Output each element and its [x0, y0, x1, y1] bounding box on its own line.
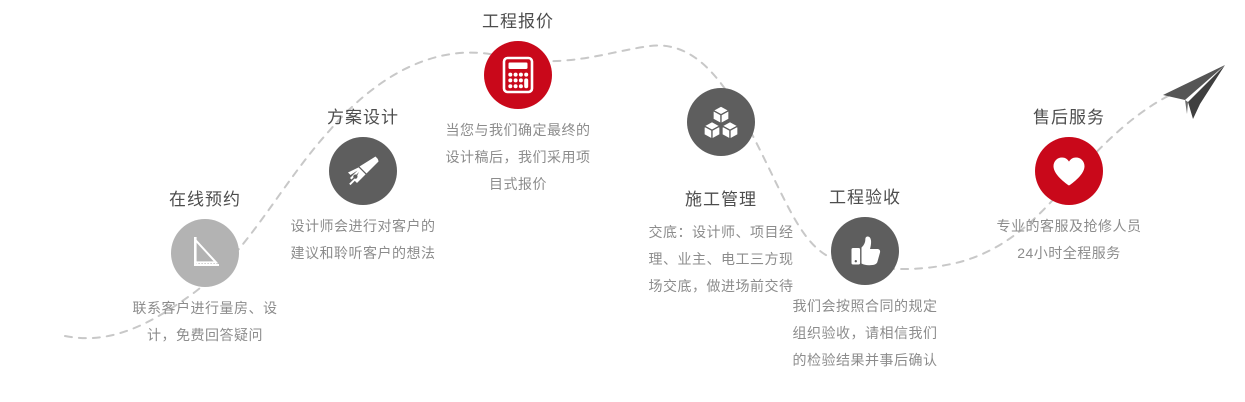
step-circle[interactable]: [484, 41, 552, 109]
step-description: 设计师会进行对客户的建议和聆听客户的想法: [288, 213, 438, 267]
paper-plane-icon: [1155, 62, 1229, 122]
step-title: 售后服务: [974, 108, 1164, 128]
blocks-cubes-icon: [700, 101, 742, 143]
step-description: 联系客户进行量房、设计，免费回答疑问: [130, 295, 280, 349]
step-circle[interactable]: [329, 137, 397, 205]
step-project-quotation[interactable]: 工程报价: [423, 12, 613, 198]
step-circle[interactable]: [687, 88, 755, 156]
step-icon-wrap: [770, 217, 960, 285]
heart-icon: [1049, 151, 1089, 191]
fountain-pen-icon: [342, 150, 384, 192]
process-flow-diagram: 在线预约 联系客户进行量房、设计，免费: [0, 0, 1245, 402]
step-project-acceptance[interactable]: 工程验收 我们会按照合同的规定组织验收，请相信我们的检验结果并事后确认: [770, 188, 960, 374]
calculator-icon: [498, 55, 538, 95]
step-circle[interactable]: [171, 219, 239, 287]
step-title: 工程报价: [423, 12, 613, 32]
step-circle[interactable]: [831, 217, 899, 285]
step-description: 我们会按照合同的规定组织验收，请相信我们的检验结果并事后确认: [790, 293, 940, 374]
step-title: 工程验收: [770, 188, 960, 208]
step-description: 当您与我们确定最终的设计稿后，我们采用项目式报价: [443, 117, 593, 198]
step-circle[interactable]: [1035, 137, 1103, 205]
step-icon-wrap: [626, 88, 816, 156]
step-after-sales-service[interactable]: 售后服务 专业的客服及抢修人员24小时全程服务: [974, 108, 1164, 267]
thumbs-up-icon: [844, 230, 886, 272]
step-description: 专业的客服及抢修人员24小时全程服务: [994, 213, 1144, 267]
step-icon-wrap: [423, 41, 613, 109]
step-icon-wrap: [974, 137, 1164, 205]
set-square-ruler-icon: [185, 233, 225, 273]
